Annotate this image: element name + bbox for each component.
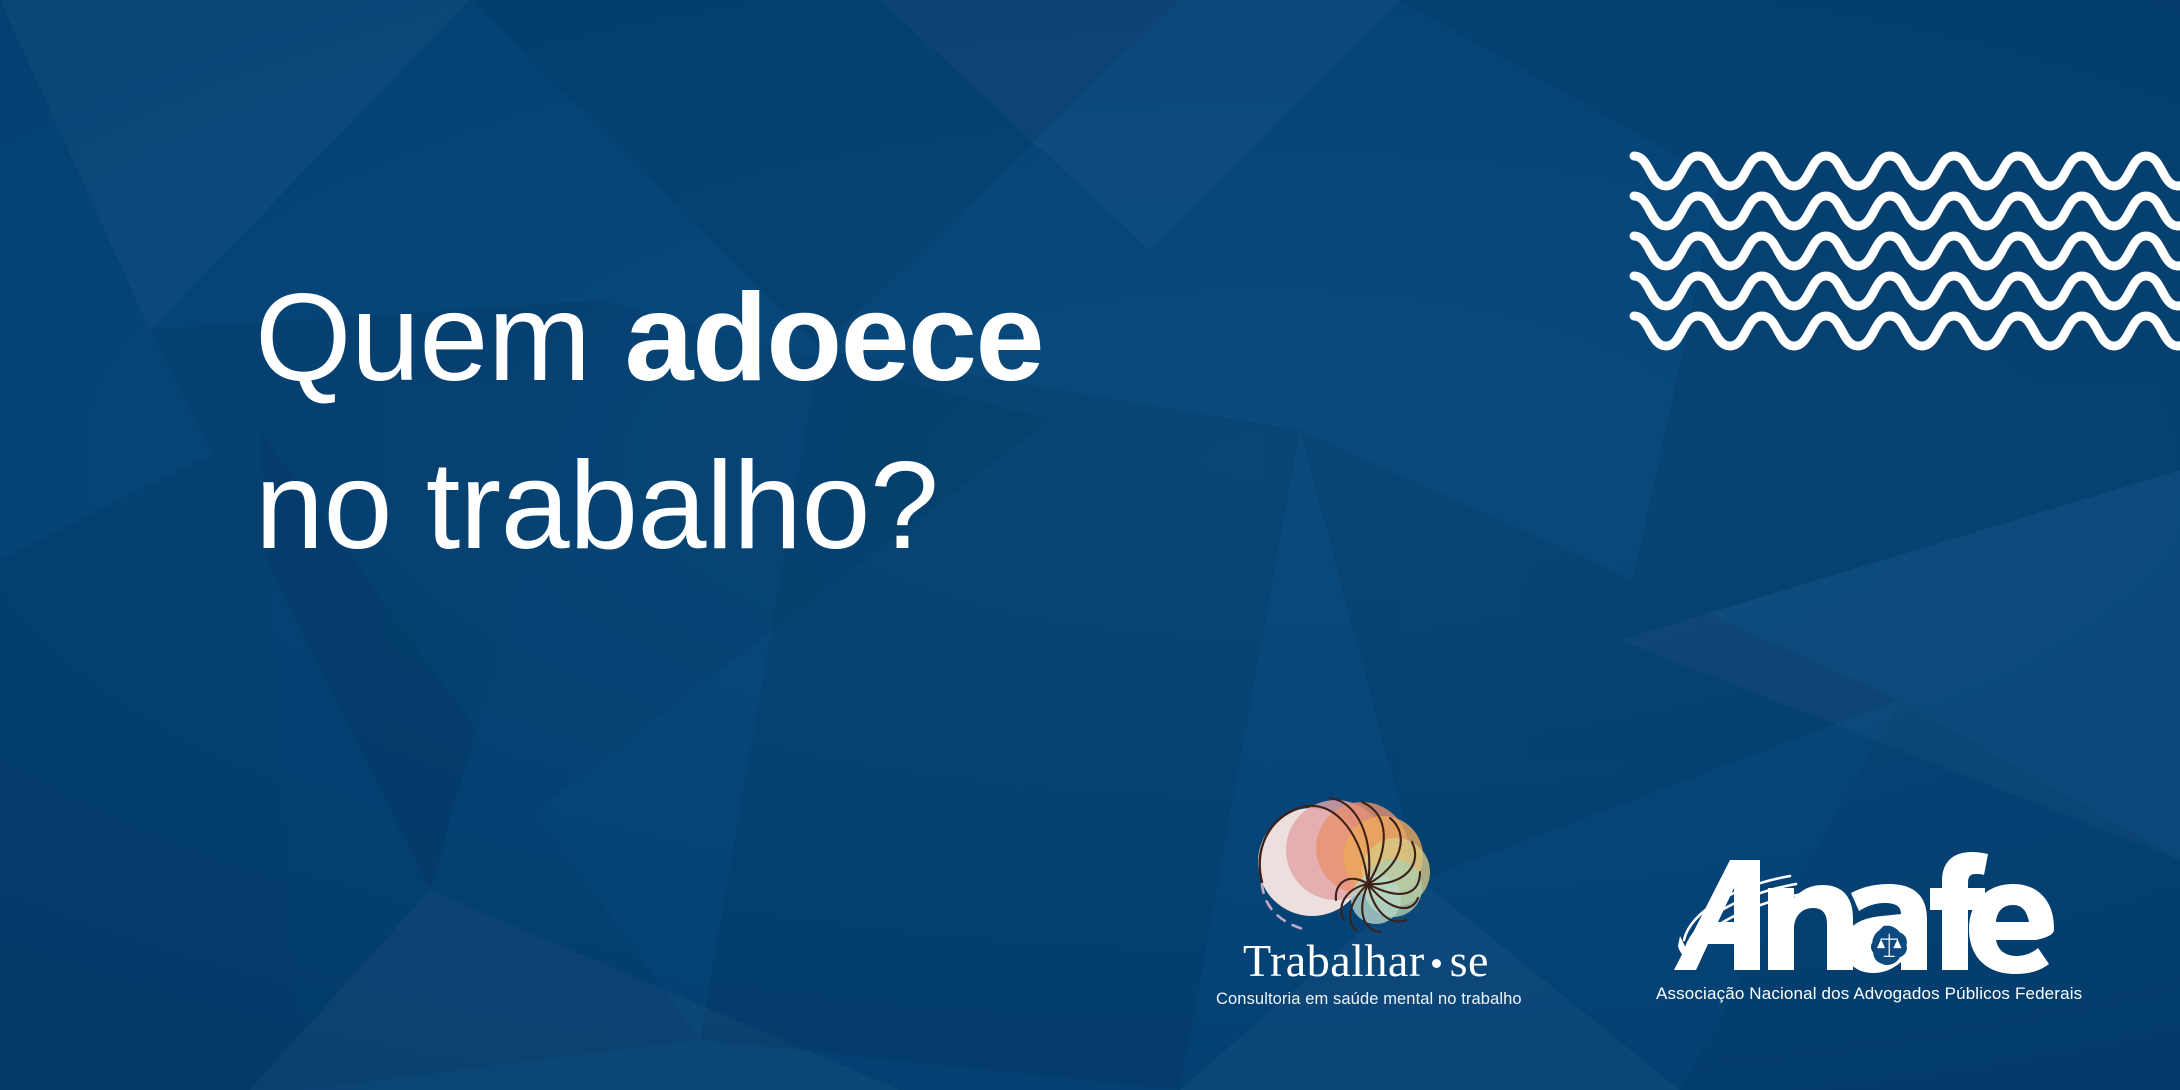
nautilus-shell-icon [1250, 772, 1450, 942]
headline-line-1: Quem adoece [255, 276, 1555, 400]
wordmark-trabalhar: Trabalhar [1243, 935, 1425, 986]
headline-word-quem: Quem [255, 269, 625, 407]
wordmark-separator-dot [1432, 959, 1441, 968]
wavy-lines-icon [1634, 152, 2180, 352]
wordmark-se: se [1450, 935, 1489, 986]
poster-canvas: Quem adoece no trabalho? [0, 0, 2180, 1090]
trabalhar-se-wordmark: Trabalharse [1216, 934, 1516, 987]
trabalhar-se-tagline: Consultoria em saúde mental no trabalho [1216, 990, 1516, 1009]
anafe-tagline: Associação Nacional dos Advogados Públic… [1656, 984, 2056, 1004]
headline-line-2: no trabalho? [255, 444, 1555, 568]
headline: Quem adoece no trabalho? [255, 276, 1555, 568]
anafe-wordmark-icon [1656, 852, 2056, 980]
logo-anafe[interactable]: Associação Nacional dos Advogados Públic… [1656, 852, 2056, 1032]
headline-word-adoece: adoece [625, 269, 1043, 407]
logo-trabalhar-se[interactable]: Trabalharse Consultoria em saúde mental … [1216, 772, 1516, 1034]
